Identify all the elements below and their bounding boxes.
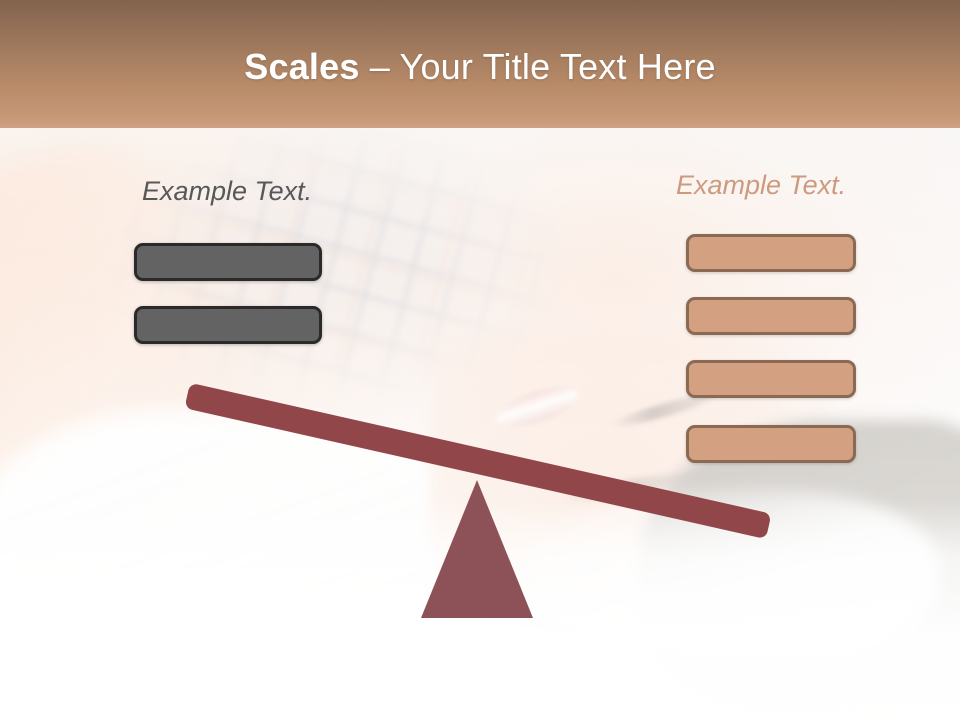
page-title: Scales – Your Title Text Here xyxy=(244,49,715,85)
right-box-1[interactable] xyxy=(686,234,856,272)
slide-canvas: Scales – Your Title Text Here Example Te… xyxy=(0,0,960,720)
page-title-bold: Scales xyxy=(244,46,359,87)
left-box-2[interactable] xyxy=(134,306,322,344)
left-box-1[interactable] xyxy=(134,243,322,281)
right-box-3[interactable] xyxy=(686,360,856,398)
left-example-label: Example Text. xyxy=(142,176,312,207)
title-banner: Scales – Your Title Text Here xyxy=(0,0,960,128)
right-box-2[interactable] xyxy=(686,297,856,335)
page-title-rest: – Your Title Text Here xyxy=(360,46,716,87)
right-box-4[interactable] xyxy=(686,425,856,463)
right-example-label: Example Text. xyxy=(676,170,846,201)
